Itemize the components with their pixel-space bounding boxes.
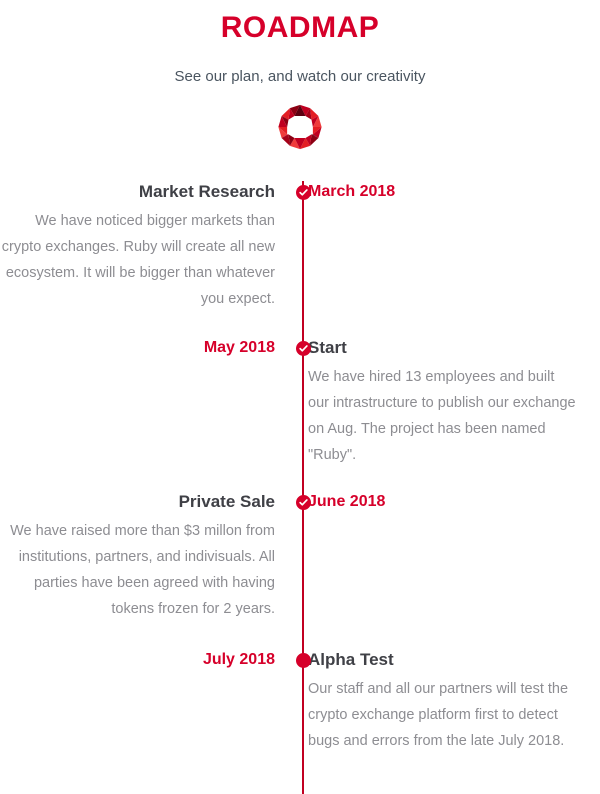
timeline-item-title: Private Sale xyxy=(0,491,275,513)
ruby-ring-logo-icon xyxy=(277,104,323,150)
timeline-item-left: Market Research We have noticed bigger m… xyxy=(0,181,289,312)
page-title: ROADMAP xyxy=(0,8,600,48)
roadmap-timeline: Market Research We have noticed bigger m… xyxy=(0,181,600,754)
timeline-item-title: Market Research xyxy=(0,181,275,203)
timeline-item-description: We have raised more than $3 millon from … xyxy=(0,518,275,622)
timeline-item-date: May 2018 xyxy=(0,337,275,359)
timeline-item-left: May 2018 xyxy=(0,337,289,468)
timeline-item-left: Private Sale We have raised more than $3… xyxy=(0,491,289,622)
timeline-item-description: We have noticed bigger markets than cryp… xyxy=(0,208,275,312)
page-header: ROADMAP See our plan, and watch our crea… xyxy=(0,0,600,87)
page-subtitle: See our plan, and watch our creativity xyxy=(0,48,600,87)
timeline-item-right: June 2018 xyxy=(289,491,578,622)
timeline-item-right: Start We have hired 13 employees and bui… xyxy=(289,337,578,468)
timeline-item-date: June 2018 xyxy=(308,491,578,513)
timeline-item-description: We have hired 13 employees and built our… xyxy=(308,364,578,468)
timeline-item[interactable]: May 2018 Start We have hired 13 employee… xyxy=(0,337,600,468)
timeline-item-date: July 2018 xyxy=(0,649,275,671)
timeline-item[interactable]: July 2018 Alpha Test Our staff and all o… xyxy=(0,649,600,754)
timeline-item-title: Start xyxy=(308,337,578,359)
timeline-item-left: July 2018 xyxy=(0,649,289,754)
check-circle-icon[interactable] xyxy=(296,495,311,510)
dot-icon[interactable] xyxy=(296,653,311,668)
timeline-item-date: March 2018 xyxy=(308,181,578,203)
check-circle-icon[interactable] xyxy=(296,341,311,356)
timeline-item[interactable]: Market Research We have noticed bigger m… xyxy=(0,181,600,312)
timeline-item[interactable]: Private Sale We have raised more than $3… xyxy=(0,491,600,622)
timeline-item-description: Our staff and all our partners will test… xyxy=(308,676,578,754)
timeline-item-title: Alpha Test xyxy=(308,649,578,671)
logo-container xyxy=(0,104,600,150)
check-circle-icon[interactable] xyxy=(296,185,311,200)
timeline-item-right: March 2018 xyxy=(289,181,578,312)
timeline-item-right: Alpha Test Our staff and all our partner… xyxy=(289,649,578,754)
